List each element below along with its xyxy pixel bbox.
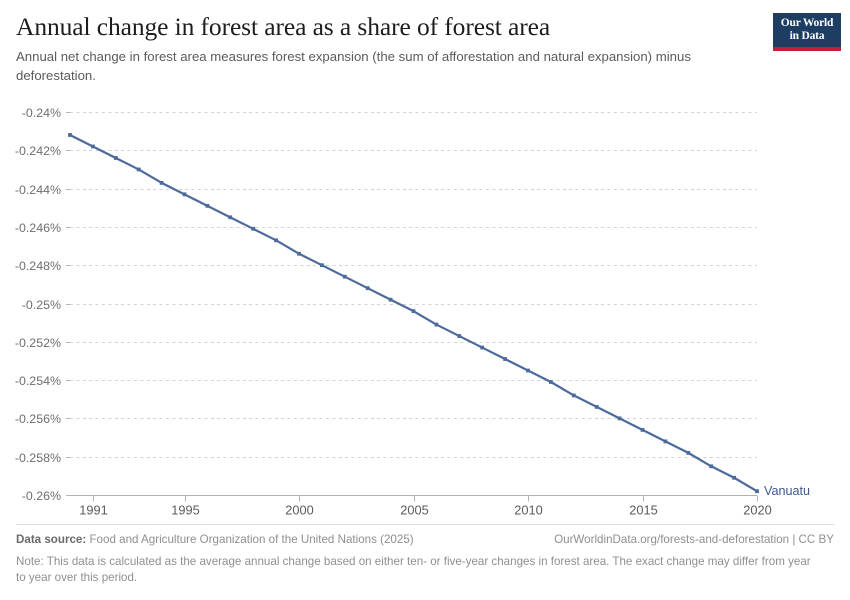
footer-divider (16, 524, 834, 525)
data-point-marker[interactable] (709, 464, 713, 468)
data-series-group[interactable] (70, 135, 757, 491)
data-point-marker[interactable] (435, 323, 439, 327)
logo-line-2: in Data (790, 30, 825, 43)
x-axis-tick-label: 2005 (400, 503, 428, 518)
data-point-marker[interactable] (755, 489, 759, 493)
data-point-marker[interactable] (457, 334, 461, 338)
y-axis-tick-label: -0.256% (15, 412, 61, 426)
y-axis-tick-labels: -0.24%-0.242%-0.244%-0.246%-0.248%-0.25%… (15, 106, 61, 503)
y-axis-tick-label: -0.252% (15, 336, 61, 350)
page-title: Annual change in forest area as a share … (16, 12, 756, 41)
note-label: Note: (16, 555, 44, 568)
data-point-marker[interactable] (732, 476, 736, 480)
data-point-marker[interactable] (91, 145, 95, 149)
data-point-marker[interactable] (183, 192, 187, 196)
data-point-marker[interactable] (137, 168, 141, 172)
our-world-in-data-logo[interactable]: Our World in Data (773, 13, 841, 51)
data-point-marker[interactable] (526, 369, 530, 373)
series-end-labels[interactable]: Vanuatu (764, 484, 810, 498)
chart-subtitle: Annual net change in forest area measure… (16, 47, 734, 85)
data-source-label: Data source: (16, 533, 86, 546)
y-axis-tick-label: -0.254% (15, 374, 61, 388)
data-point-marker[interactable] (595, 405, 599, 409)
data-point-marker[interactable] (274, 238, 278, 242)
note-value: This data is calculated as the average a… (16, 555, 811, 584)
y-axis-tick-label: -0.25% (22, 298, 61, 312)
data-point-marker[interactable] (343, 275, 347, 279)
x-axis-group (70, 496, 758, 502)
logo-line-1: Our World (781, 17, 833, 30)
series-label-vanuatu[interactable]: Vanuatu (764, 484, 810, 498)
owid-url-link[interactable]: OurWorldinData.org/forests-and-deforesta… (554, 532, 834, 548)
y-axis-tick-label: -0.242% (15, 144, 61, 158)
gridlines-group (66, 113, 757, 496)
data-point-marker[interactable] (549, 380, 553, 384)
y-axis-tick-label: -0.258% (15, 451, 61, 465)
data-point-marker[interactable] (480, 346, 484, 350)
data-source-value: Food and Agriculture Organization of the… (89, 533, 413, 546)
y-axis-tick-label: -0.26% (22, 489, 61, 503)
data-point-marker[interactable] (641, 428, 645, 432)
data-point-marker[interactable] (206, 204, 210, 208)
data-point-marker[interactable] (320, 263, 324, 267)
x-axis-tick-label: 1995 (171, 503, 199, 518)
chart-footer: Data source: Food and Agriculture Organi… (16, 524, 834, 587)
data-line-vanuatu[interactable] (70, 135, 757, 491)
x-axis-tick-label: 2020 (743, 503, 771, 518)
data-point-marker[interactable] (251, 227, 255, 231)
y-axis-tick-label: -0.244% (15, 183, 61, 197)
data-point-marker[interactable] (228, 215, 232, 219)
footer-source-row: Data source: Food and Agriculture Organi… (16, 532, 834, 548)
data-point-marker[interactable] (114, 156, 118, 160)
data-point-marker[interactable] (664, 439, 668, 443)
x-axis-tick-label: 2015 (629, 503, 657, 518)
y-axis-tick-label: -0.24% (22, 106, 61, 120)
x-axis-tick-label: 2010 (514, 503, 542, 518)
data-source: Data source: Food and Agriculture Organi… (16, 532, 414, 548)
chart-plot-area[interactable]: -0.24%-0.242%-0.244%-0.246%-0.248%-0.25%… (0, 96, 850, 516)
line-chart-svg[interactable]: -0.24%-0.242%-0.244%-0.246%-0.248%-0.25%… (0, 96, 850, 516)
data-point-marker[interactable] (686, 451, 690, 455)
chart-page: Annual change in forest area as a share … (0, 0, 850, 600)
data-point-marker[interactable] (160, 181, 164, 185)
footer-note-row: Note: This data is calculated as the ave… (16, 554, 816, 587)
chart-header: Annual change in forest area as a share … (16, 12, 756, 86)
y-axis-tick-label: -0.246% (15, 221, 61, 235)
data-point-marker[interactable] (366, 286, 370, 290)
data-point-marker[interactable] (389, 298, 393, 302)
data-point-marker[interactable] (503, 357, 507, 361)
data-point-marker[interactable] (297, 252, 301, 256)
x-axis-tick-labels: 1991199520002005201020152020 (79, 503, 771, 518)
data-point-marker[interactable] (618, 417, 622, 421)
data-point-marker[interactable] (68, 133, 72, 137)
y-axis-tick-label: -0.248% (15, 259, 61, 273)
x-axis-tick-label: 1991 (79, 503, 107, 518)
data-point-marker[interactable] (412, 309, 416, 313)
data-point-marker[interactable] (572, 394, 576, 398)
x-axis-tick-label: 2000 (285, 503, 313, 518)
